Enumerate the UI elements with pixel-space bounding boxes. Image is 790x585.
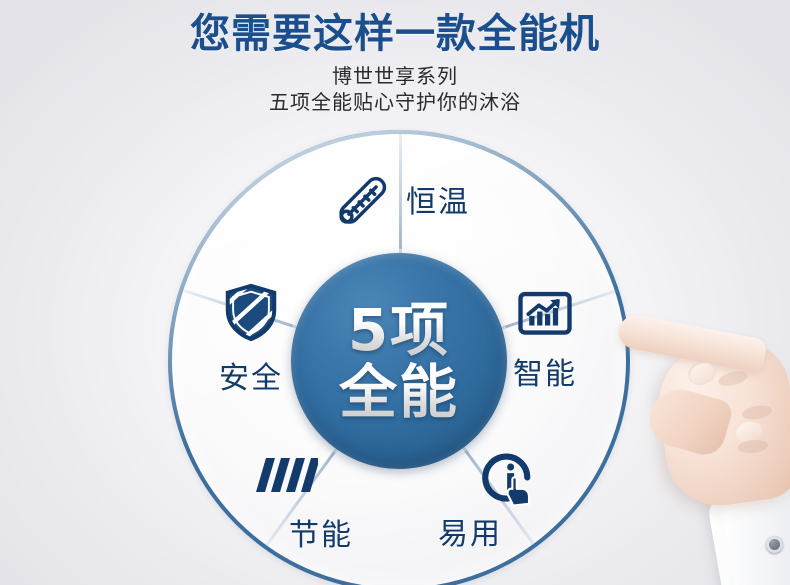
info-pointer-icon — [480, 453, 536, 509]
hand-thumb — [644, 382, 735, 459]
feature-energy-label: 节能 — [289, 520, 353, 552]
knuckle-crease-1 — [717, 369, 749, 389]
thumb-nail — [734, 419, 765, 445]
feature-smart-label: 智能 — [513, 359, 577, 391]
thermometer-icon — [332, 172, 394, 234]
four-slashes-icon-wrap — [256, 458, 318, 494]
feature-wheel: 5项 全能 恒温 — [168, 130, 630, 585]
feature-easy-use-label: 易用 — [438, 519, 502, 551]
bar-chart-arrow-icon — [517, 287, 573, 343]
finger-nail — [685, 358, 719, 389]
feature-thermostat[interactable]: 恒温 — [296, 172, 506, 234]
feature-safety-label: 安全 — [219, 363, 283, 395]
shirt-cuff — [706, 477, 790, 585]
hub-line-2: 全能 — [339, 362, 459, 422]
feature-smart[interactable]: 智能 — [480, 264, 610, 414]
hub-line-1: 5项 — [348, 300, 450, 360]
pointing-finger — [616, 312, 768, 374]
hand-palm — [652, 336, 790, 513]
thermometer-icon-wrap — [332, 172, 394, 234]
cuff-button — [766, 536, 783, 553]
shirt-cuff-fold — [720, 487, 790, 585]
info-pointer-icon-wrap — [480, 453, 536, 509]
pointing-hand-photo — [610, 300, 790, 585]
feature-easy-use[interactable]: 易用 — [416, 426, 566, 578]
shield-icon-wrap — [222, 281, 280, 343]
promo-banner: 您需要这样一款全能机 博世世享系列 五项全能贴心守护你的沐浴 5项 全能 — [0, 0, 790, 585]
feature-thermostat-label: 恒温 — [406, 187, 470, 219]
knuckle-crease-3 — [737, 438, 768, 454]
four-slashes-icon — [256, 458, 318, 494]
shield-icon — [222, 281, 280, 343]
feature-safety[interactable]: 安全 — [186, 262, 316, 414]
bar-chart-arrow-icon-wrap — [517, 287, 573, 343]
page-title: 您需要这样一款全能机 — [0, 8, 790, 60]
subtitle-line-1: 博世世享系列 — [0, 63, 790, 89]
knuckle-crease-2 — [741, 403, 773, 421]
feature-energy[interactable]: 节能 — [230, 430, 370, 580]
subtitle-line-2: 五项全能贴心守护你的沐浴 — [0, 89, 790, 115]
